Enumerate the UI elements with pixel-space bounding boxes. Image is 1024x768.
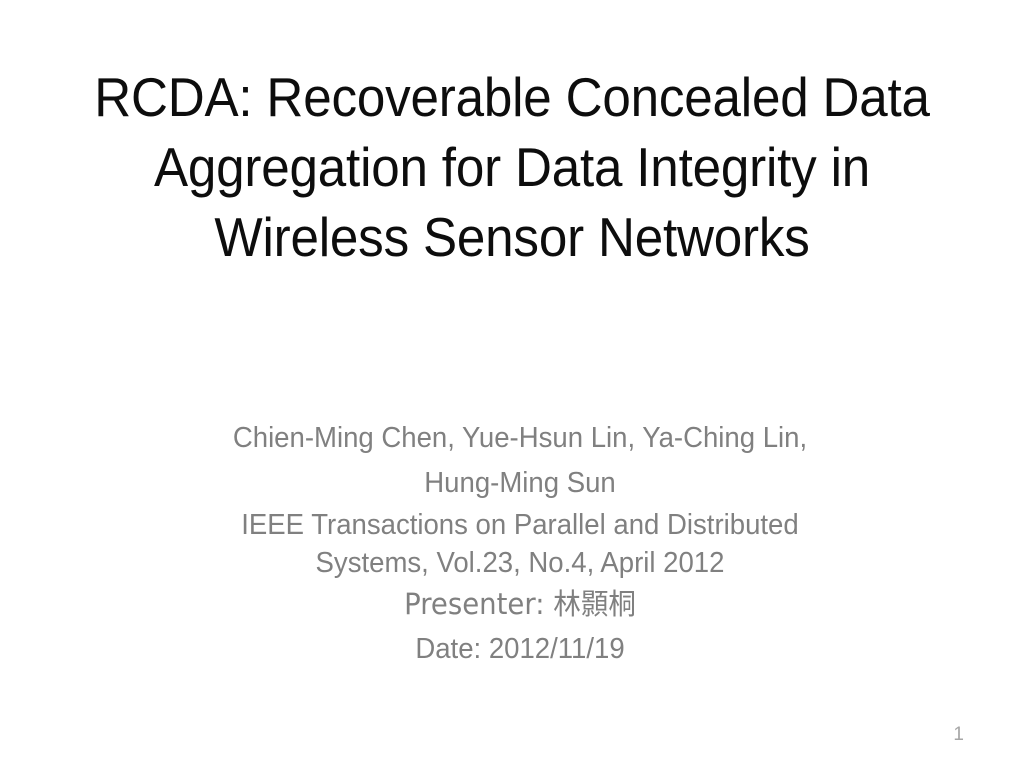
slide-subtitle-block: Chien-Ming Chen, Yue-Hsun Lin, Ya-Ching … xyxy=(190,416,850,672)
slide: RCDA: Recoverable Concealed Data Aggrega… xyxy=(0,0,1024,768)
publication-reference: IEEE Transactions on Parallel and Distri… xyxy=(207,506,834,582)
presenter-line: Presenter: 林顥桐 xyxy=(207,582,834,627)
title-line-3: Wireless Sensor Networks xyxy=(94,202,931,272)
date-line: Date: 2012/11/19 xyxy=(207,627,834,672)
title-line-2: Aggregation for Data Integrity in xyxy=(94,132,931,202)
authors-line-2: Hung-Ming Sun xyxy=(207,461,834,506)
page-number: 1 xyxy=(953,724,964,746)
authors-line-1: Chien-Ming Chen, Yue-Hsun Lin, Ya-Ching … xyxy=(207,416,834,461)
slide-title: RCDA: Recoverable Concealed Data Aggrega… xyxy=(62,62,962,272)
title-line-1: RCDA: Recoverable Concealed Data xyxy=(94,62,931,132)
